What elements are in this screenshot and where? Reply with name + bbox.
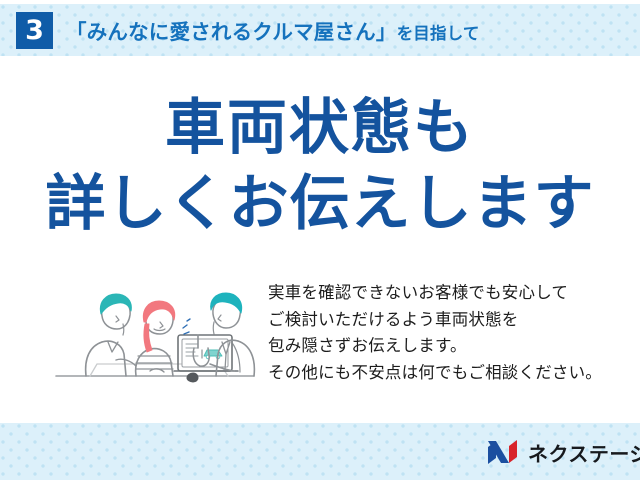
lower-section: 実車を確認できないお客様でも安心して ご検討いただけるよう車両状態を 包み隠さず…: [0, 272, 640, 404]
body-copy-line: 実車を確認できないお客様でも安心して: [268, 280, 602, 307]
header-title-quoted: 「みんなに愛されるクルマ屋さん」: [66, 21, 397, 44]
body-copy-line: 包み隠さずお伝えします。: [268, 333, 602, 360]
headline-line-1: 車両状態も: [0, 96, 640, 160]
body-copy-line: ご検討いただけるよう車両状態を: [268, 307, 602, 334]
promo-poster: 3 「みんなに愛されるクルマ屋さん」を目指して 車両状態も 詳しくお伝えします: [0, 0, 640, 480]
brand-logo-text: ネクステージ: [528, 438, 640, 467]
nextage-n-mark: [487, 440, 521, 465]
header-title: 「みんなに愛されるクルマ屋さん」を目指して: [66, 15, 480, 45]
body-copy-line: その他にも不安点は何でもご相談ください。: [268, 360, 602, 387]
headline: 車両状態も 詳しくお伝えします: [0, 96, 640, 235]
header-title-suffix: を目指して: [397, 25, 480, 43]
brand-logo: ネクステージ: [487, 437, 640, 467]
customer-consultation-illustration: [50, 272, 260, 397]
step-number-badge: 3: [16, 12, 53, 49]
body-copy: 実車を確認できないお客様でも安心して ご検討いただけるよう車両状態を 包み隠さず…: [268, 280, 602, 387]
header: 3 「みんなに愛されるクルマ屋さん」を目指して: [0, 4, 640, 56]
headline-line-2: 詳しくお伝えします: [0, 172, 640, 236]
